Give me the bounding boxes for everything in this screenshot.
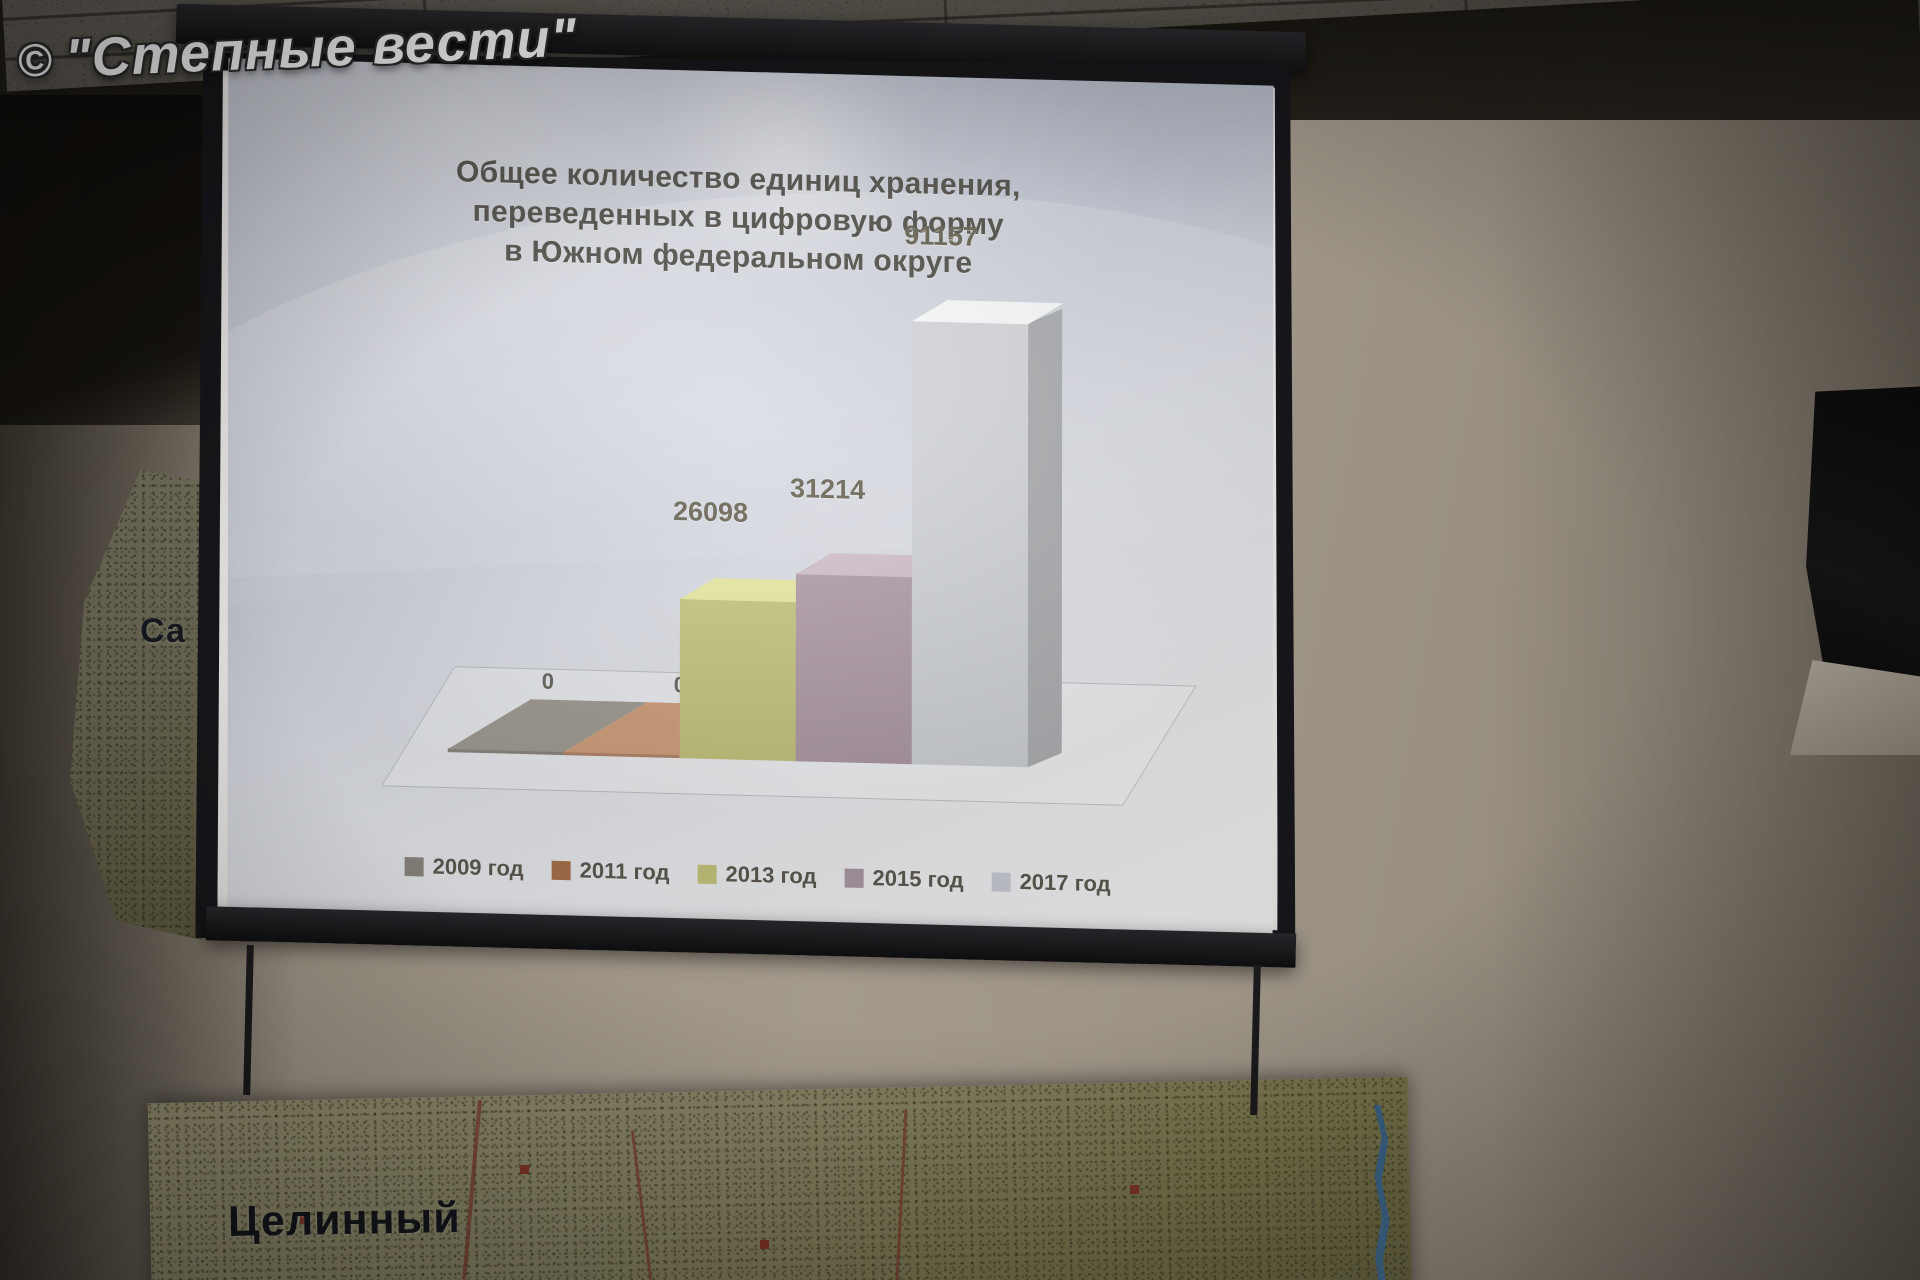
bar-2013	[680, 598, 796, 761]
bar-front-face	[912, 320, 1028, 767]
slide-title: Общее количество единиц хранения, переве…	[378, 150, 1098, 286]
legend-label: 2017 год	[1020, 869, 1111, 897]
legend-item-2011: 2011 год	[552, 857, 670, 886]
bar-front-face	[796, 573, 912, 764]
legend-swatch-icon	[405, 856, 424, 875]
photo-scene: Са Целинный Общее количество единиц хран…	[0, 0, 1920, 1280]
legend-swatch-icon	[697, 864, 716, 883]
legend-label: 2009 год	[433, 854, 524, 882]
wall-shelf	[1790, 660, 1920, 755]
bar-value-label-2013: 26098	[673, 496, 748, 529]
bar-2017	[912, 320, 1028, 767]
map-settlement-dot	[760, 1240, 769, 1249]
bar-front-face	[680, 598, 796, 761]
legend-swatch-icon	[992, 872, 1011, 891]
bar-value-label-2017: 91157	[904, 220, 978, 253]
map-label-bottom: Целинный	[228, 1194, 462, 1247]
legend-label: 2015 год	[873, 865, 964, 893]
presentation-slide: Общее количество единиц хранения, переве…	[228, 58, 1274, 940]
bar-2015	[796, 573, 912, 764]
chart-legend: 2009 год 2011 год 2013 год 2015 год 2017…	[378, 852, 1138, 898]
bar-side-face	[1028, 309, 1062, 767]
legend-swatch-icon	[845, 868, 864, 887]
map-label-left: Са	[140, 612, 186, 651]
legend-label: 2013 год	[725, 861, 816, 889]
bar-value-label-2015: 31214	[790, 473, 865, 506]
bar-value-label-2009: 0	[542, 669, 554, 695]
wall-map-bottom	[148, 1077, 1413, 1280]
bar-chart: 0 0 26098	[338, 291, 1219, 834]
legend-item-2015: 2015 год	[845, 864, 964, 893]
map-settlement-dot	[1130, 1185, 1139, 1194]
legend-item-2017: 2017 год	[992, 868, 1111, 897]
legend-label: 2011 год	[580, 858, 670, 886]
legend-item-2009: 2009 год	[405, 853, 524, 882]
copyright-icon: ©	[17, 32, 54, 87]
legend-swatch-icon	[552, 860, 571, 879]
legend-item-2013: 2013 год	[697, 861, 816, 890]
map-settlement-dot	[520, 1165, 529, 1174]
